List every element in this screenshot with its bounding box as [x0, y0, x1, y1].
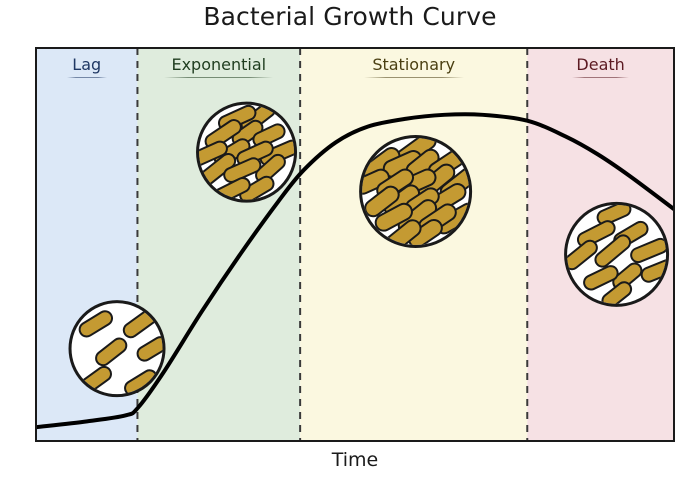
phase-label-underline-exponential — [164, 77, 273, 78]
phase-label-underline-lag — [67, 77, 107, 78]
phase-label-stationary: Stationary — [300, 55, 527, 74]
phase-label-underline-stationary — [364, 77, 464, 78]
phase-band-exponential — [137, 48, 300, 441]
phase-label-exponential: Exponential — [137, 55, 300, 74]
phase-label-underline-death — [572, 77, 629, 78]
bacterial-growth-curve-figure: Bacterial Growth Curve Bacterial Growth … — [0, 0, 700, 477]
phase-label-death: Death — [527, 55, 674, 74]
phase-label-lag: Lag — [36, 55, 137, 74]
